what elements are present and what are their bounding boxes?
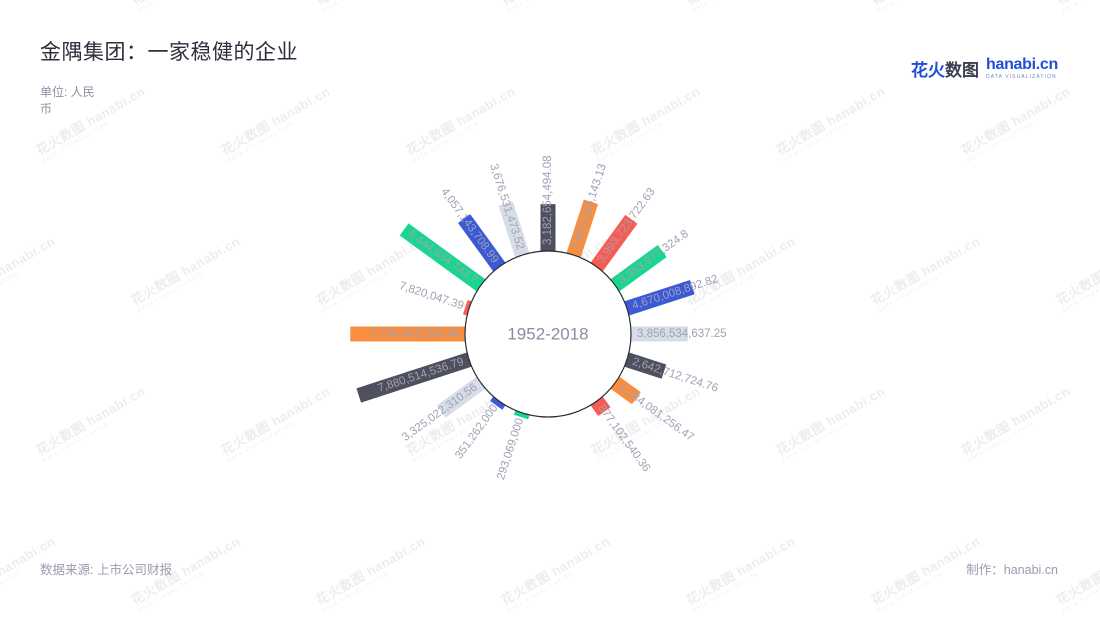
bar-value-label: 293,069,000 (495, 417, 526, 482)
brand-logo: 花火数图 hanabi.cn DATA VISUALIZATION (911, 56, 1058, 81)
bar-value-label: 7,880,514,536.79 (376, 356, 465, 395)
bar-value-label: 351,262,000 (453, 402, 500, 461)
radial-bar-chart-svg: 1952-2018 293,069,000351,262,0003,325,02… (0, 0, 1100, 620)
brand-logo-en: hanabi.cn DATA VISUALIZATION (986, 57, 1058, 80)
bar-value-label: 4,670,008,892.82 (631, 273, 720, 312)
data-source-text: 数据来源: 上市公司财报 (40, 559, 172, 578)
chart-unit-subtitle: 单位: 人民币 (40, 84, 100, 118)
brand-logo-domain: hanabi.cn (986, 57, 1058, 73)
brand-logo-cn-part2: 数图 (945, 61, 979, 80)
bar-value-label: 877,102,540.36 (595, 402, 652, 474)
brand-logo-tagline: DATA VISUALIZATION (986, 75, 1058, 80)
bar-value-label: 3,803,345,143.13 (570, 162, 609, 251)
credit-text: 制作：hanabi.cn (966, 559, 1058, 578)
bar-value-label: 3,676,531,473.52 (487, 162, 526, 251)
brand-logo-cn-part1: 花火 (911, 61, 945, 80)
bar-value-label: 7,794,403,259.46 (369, 328, 459, 340)
page-title: 金隅集团：一家稳健的企业 (40, 36, 298, 66)
bar-value-label: 2,642,712,724.76 (631, 356, 720, 395)
brand-logo-cn: 花火数图 (911, 56, 979, 81)
chart-canvas: 花火数图 hanabi.cnDATA VISUALIZATION花火数图 han… (0, 0, 1100, 620)
bar-value-label: 7,820,047.39 (398, 280, 466, 312)
chart-center-label: 1952-2018 (507, 325, 588, 344)
bar-value-label: 3,856,534,637.25 (637, 328, 727, 340)
radial-bar-chart: 1952-2018 293,069,000351,262,0003,325,02… (0, 0, 1100, 620)
bar-value-label: 3,182,654,494.08 (542, 155, 554, 245)
